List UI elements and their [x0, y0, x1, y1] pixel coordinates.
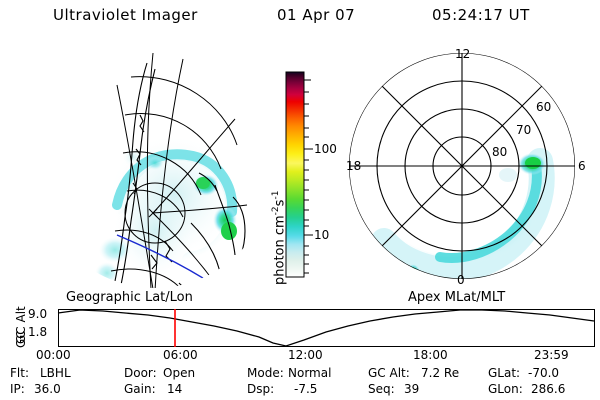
mlt-label-6: 6 [578, 159, 586, 173]
orbit-ytick-9: 9.0 [28, 307, 47, 321]
colorbar-axis-exp1: -2 [271, 206, 281, 215]
apex-caption: Apex MLat/MLT [408, 290, 505, 305]
orbit-xtick-1200: 12:00 [288, 348, 323, 362]
status-ip-key: IP: [10, 382, 25, 396]
status-glon-key: GLon: [488, 382, 523, 396]
status-gain-key: Gain: [124, 382, 156, 396]
mlt-label-12: 12 [455, 47, 470, 61]
geographic-caption: Geographic Lat/Lon [66, 290, 193, 305]
observation-time: 05:24:17 UT [432, 6, 530, 24]
orbit-xtick-2359: 23:59 [534, 348, 569, 362]
observation-date: 01 Apr 07 [277, 6, 355, 24]
status-mode-key: Mode: [247, 366, 284, 380]
orbit-xtick-0000: 00:00 [36, 348, 71, 362]
mlat-label-60: 60 [536, 100, 551, 114]
mlt-label-18: 18 [346, 159, 361, 173]
mlat-label-80: 80 [492, 145, 507, 159]
colorbar-ticks [304, 80, 313, 273]
apex-polar-plot [340, 45, 590, 295]
orbit-ytick-1_8: 1.8 [28, 325, 47, 339]
colorbar-tick-10: 10 [314, 228, 329, 242]
status-ip-value: 36.0 [34, 382, 61, 396]
colorbar-axis-label-s: s [272, 200, 287, 207]
status-glon-value: 286.6 [531, 382, 565, 396]
status-door-value: Open [163, 366, 195, 380]
status-flt-key: Flt: [10, 366, 29, 380]
status-seq-value: 39 [404, 382, 419, 396]
status-dsp-value: -7.5 [294, 382, 317, 396]
status-gcalt-value: 7.2 Re [421, 366, 459, 380]
geographic-image-panel[interactable] [95, 45, 265, 295]
orbit-xtick-0600: 06:00 [163, 348, 198, 362]
status-gcalt-key: GC Alt: [368, 366, 410, 380]
status-glat-value: -70.0 [528, 366, 559, 380]
status-glat-key: GLat: [488, 366, 520, 380]
status-footer: Flt: LBHL Door: Open Mode: Normal GC Alt… [0, 366, 600, 400]
status-gain-value: 14 [167, 382, 182, 396]
colorbar-svg [255, 60, 350, 295]
status-mode-value: Normal [288, 366, 331, 380]
orbit-xtick-1800: 18:00 [413, 348, 448, 362]
status-door-key: Door: [124, 366, 157, 380]
orbit-altitude-plot [58, 309, 595, 347]
orbit-altitude-panel[interactable]: GC Alt 9.0 1.8 00:00 06:00 12:00 18:00 2… [0, 306, 600, 358]
colorbar-tick-100: 100 [314, 142, 337, 156]
status-dsp-key: Dsp: [247, 382, 274, 396]
apex-polar-panel[interactable]: 12 6 0 18 60 70 80 [340, 45, 590, 295]
mlt-label-0: 0 [457, 273, 465, 287]
status-flt-value: LBHL [40, 366, 71, 380]
colorbar-axis-exp2: -1 [271, 191, 281, 200]
status-seq-key: Seq: [368, 382, 395, 396]
colorbar[interactable]: 100 10 photon cm-2s-1 [255, 60, 350, 295]
colorbar-gradient [286, 72, 304, 277]
colorbar-axis-label-main: photon cm [272, 215, 287, 285]
mlat-label-70: 70 [516, 123, 531, 137]
orbit-yaxis-title-bottom: GC [14, 348, 32, 362]
geographic-plot [95, 45, 265, 295]
orbit-plot-frame [59, 310, 595, 347]
instrument-title: Ultraviolet Imager [53, 6, 198, 24]
